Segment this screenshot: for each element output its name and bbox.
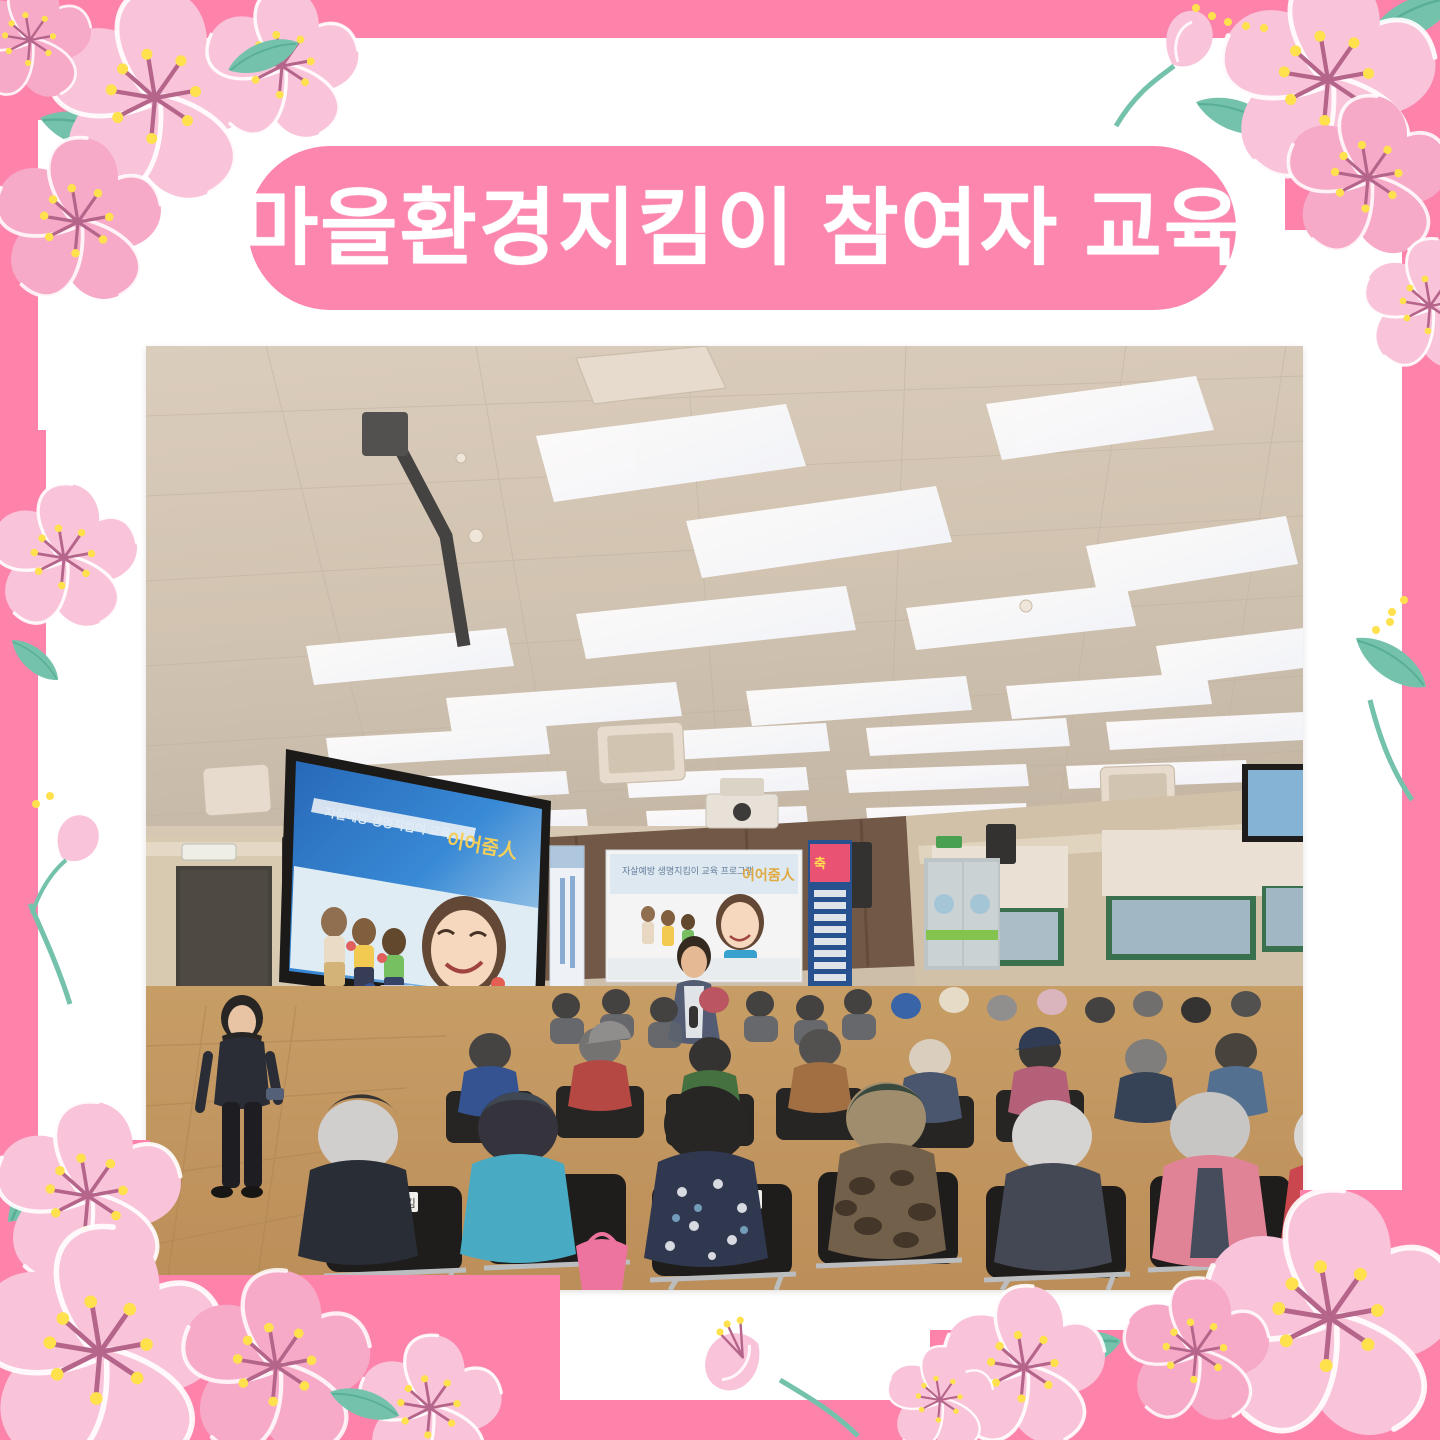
title-banner: 마을환경지킴이 참여자 교육 (248, 146, 1236, 310)
page-title: 마을환경지킴이 참여자 교육 (241, 186, 1243, 270)
corner-accent-top-left (0, 0, 128, 120)
corner-accent-mid-left (0, 430, 46, 660)
corner-accent-top-right-2 (1230, 0, 1440, 60)
event-photo-illustration: 자살예방 생명지킴이 교육 이어줌人 (146, 346, 1303, 1290)
corner-accent-bottom-left-2 (0, 1275, 560, 1440)
frame-border-top (0, 0, 1440, 38)
poster-canvas: 자살예방 생명지킴이 교육 이어줌人 (0, 0, 1440, 1440)
corner-accent-bottom-right-2 (930, 1330, 1440, 1440)
event-photo: 자살예방 생명지킴이 교육 이어줌人 (146, 346, 1303, 1290)
